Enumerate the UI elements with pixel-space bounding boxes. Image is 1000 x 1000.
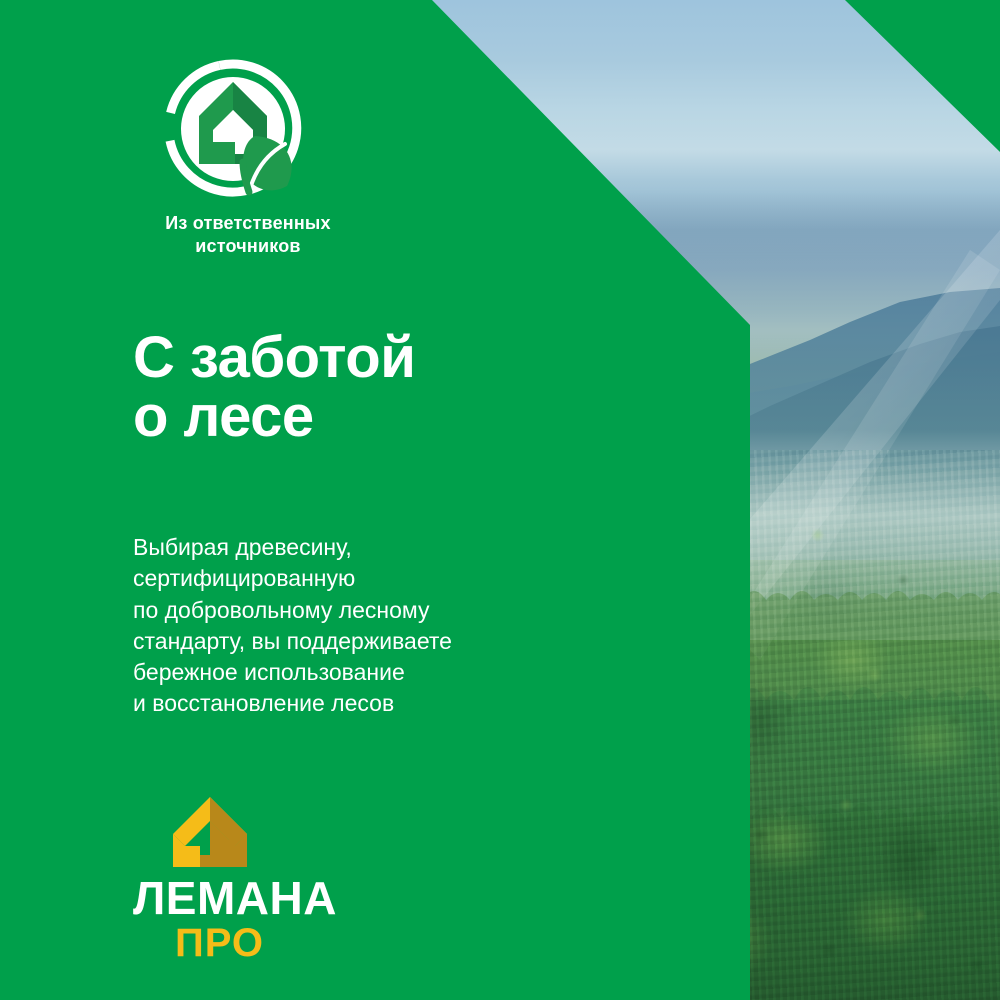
certification-badge: Из ответственных источников <box>133 58 393 258</box>
body-paragraph: Выбирая древесину, сертифицированную по … <box>133 532 452 720</box>
certification-caption: Из ответственных источников <box>133 212 363 258</box>
brand-subname: ПРО <box>175 923 363 963</box>
poster-root: Из ответственных источников С заботой о … <box>0 0 1000 1000</box>
lemana-pro-house-icon <box>171 795 249 869</box>
brand-name: ЛЕМАНА <box>133 875 363 921</box>
poster-content: Из ответственных источников С заботой о … <box>0 0 1000 1000</box>
responsible-sources-circle-house-leaf-icon <box>163 58 303 200</box>
page-title: С заботой о лесе <box>133 328 415 446</box>
brand-lockup: ЛЕМАНА ПРО <box>133 795 363 963</box>
